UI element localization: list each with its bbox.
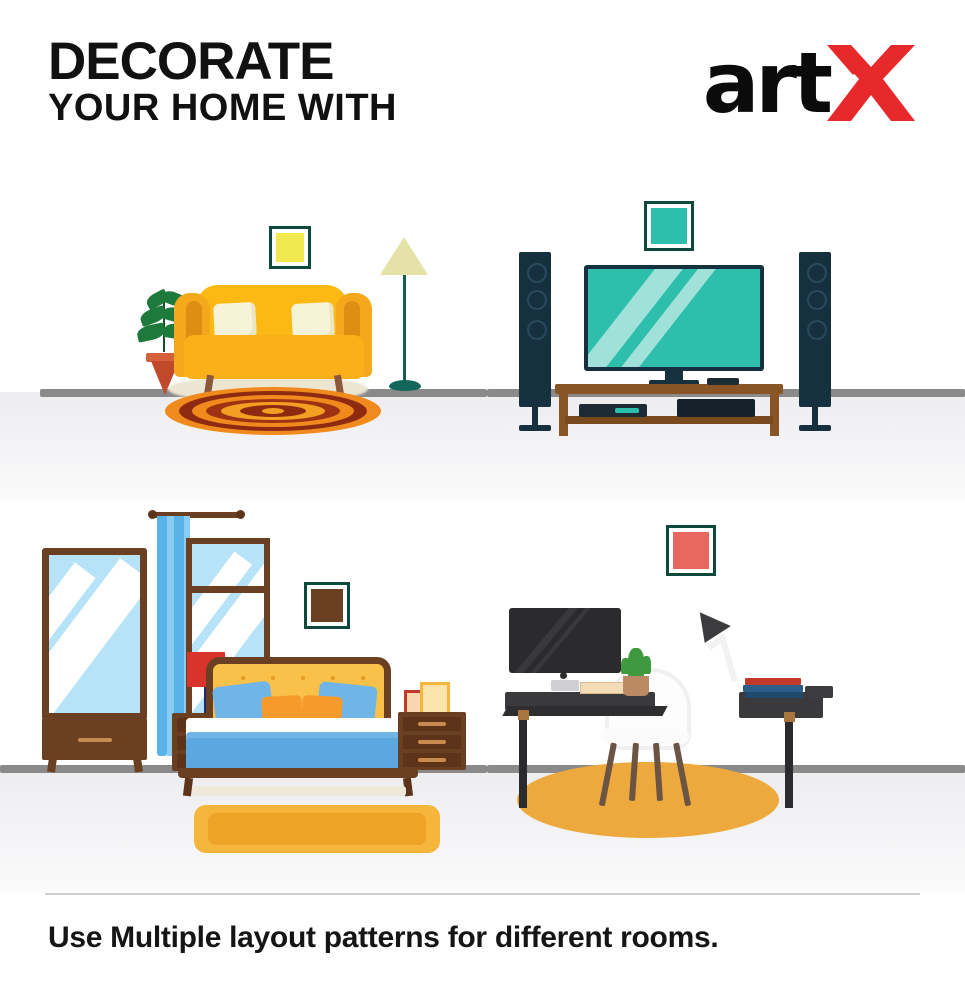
scenes-grid	[0, 175, 965, 893]
window-mullion	[186, 586, 270, 593]
oval-rug	[517, 762, 779, 838]
brand-logo: art	[703, 38, 917, 128]
footer: Use Multiple layout patterns for differe…	[0, 893, 965, 1000]
lamp-base	[389, 380, 421, 391]
tv-neck	[665, 371, 683, 380]
wall-art-brown[interactable]	[304, 582, 350, 629]
art-canvas	[673, 532, 709, 569]
speaker-driver	[527, 263, 547, 283]
rug-inner	[208, 813, 426, 845]
logo-x-icon	[825, 41, 917, 125]
speaker-driver	[527, 320, 547, 340]
speaker-driver	[807, 263, 827, 283]
rod-knob	[236, 510, 245, 519]
headboard-tuft	[271, 676, 275, 680]
stand-leg	[770, 394, 779, 436]
scene-bedroom[interactable]	[0, 500, 487, 893]
art-canvas	[651, 208, 687, 244]
page-title: DECORATE YOUR HOME WITH	[48, 38, 397, 126]
wall-art-yellow[interactable]	[269, 226, 311, 269]
cactus-arm	[621, 658, 630, 674]
lamp-pole	[403, 275, 406, 385]
rod-knob	[148, 510, 157, 519]
drawer-handle	[78, 738, 112, 742]
tv-screen	[588, 269, 760, 367]
headline-line-2: YOUR HOME WITH	[48, 91, 397, 126]
scene-tv-room[interactable]	[487, 175, 965, 500]
art-canvas	[276, 233, 304, 262]
footer-divider	[45, 893, 920, 895]
desk-leg-left	[519, 714, 527, 808]
chair-seat	[601, 728, 689, 744]
sofa-seat	[184, 335, 364, 379]
book-blue	[743, 685, 803, 692]
art-mat	[669, 528, 713, 573]
headboard-tuft	[361, 676, 365, 680]
speaker-stem	[532, 407, 538, 427]
bed-shadow	[192, 786, 406, 796]
desk-leg-right	[785, 716, 793, 808]
rug-ring-center	[262, 408, 284, 414]
stand-shelf	[565, 416, 773, 424]
drawer-handle	[418, 722, 446, 726]
art-mat	[272, 229, 308, 266]
art-canvas	[311, 589, 343, 622]
footer-caption: Use Multiple layout patterns for differe…	[48, 921, 718, 955]
logo-wordmark: art	[703, 41, 829, 125]
book-navy	[745, 692, 803, 698]
mirror-glass	[49, 555, 140, 713]
screen-glint	[512, 608, 582, 673]
headboard-tuft	[301, 676, 305, 680]
speaker-foot	[799, 425, 831, 431]
header: DECORATE YOUR HOME WITH art	[0, 0, 965, 175]
blanket	[186, 738, 410, 772]
curtain-panel	[157, 516, 167, 756]
drawer-handle	[418, 740, 446, 744]
desk-leg-cap	[518, 710, 529, 720]
speaker-driver	[527, 290, 547, 310]
headline-line-1: DECORATE	[48, 38, 397, 87]
cactus-arm	[642, 656, 651, 674]
speaker-foot	[519, 425, 551, 431]
cactus-pot	[623, 676, 649, 696]
wall-art-coral[interactable]	[666, 525, 716, 576]
stand-top	[555, 384, 783, 394]
headboard-tuft	[331, 676, 335, 680]
media-player-led	[615, 408, 639, 413]
drawer-handle	[418, 758, 446, 762]
desk-leg-cap	[784, 712, 795, 722]
poster-canvas: DECORATE YOUR HOME WITH art	[0, 0, 965, 1000]
bed-frame	[178, 768, 418, 778]
speaker-driver	[807, 290, 827, 310]
scene-living-room[interactable]	[0, 175, 487, 500]
monitor-stand	[551, 680, 579, 691]
art-mat	[647, 204, 691, 248]
monitor-logo	[560, 672, 567, 679]
soundbar	[707, 378, 739, 385]
headboard-tuft	[241, 676, 245, 680]
speaker-stem	[812, 407, 818, 427]
wall-art-teal[interactable]	[644, 201, 694, 251]
speaker-driver	[807, 320, 827, 340]
lamp-shade	[380, 237, 428, 275]
stand-leg	[559, 394, 568, 436]
desk-organizer	[805, 686, 833, 698]
console-box	[677, 399, 755, 417]
art-mat	[307, 585, 347, 626]
monitor-screen	[509, 608, 621, 673]
desk-notebook	[580, 682, 626, 694]
scene-home-office[interactable]	[487, 500, 965, 893]
book-red	[745, 678, 801, 685]
